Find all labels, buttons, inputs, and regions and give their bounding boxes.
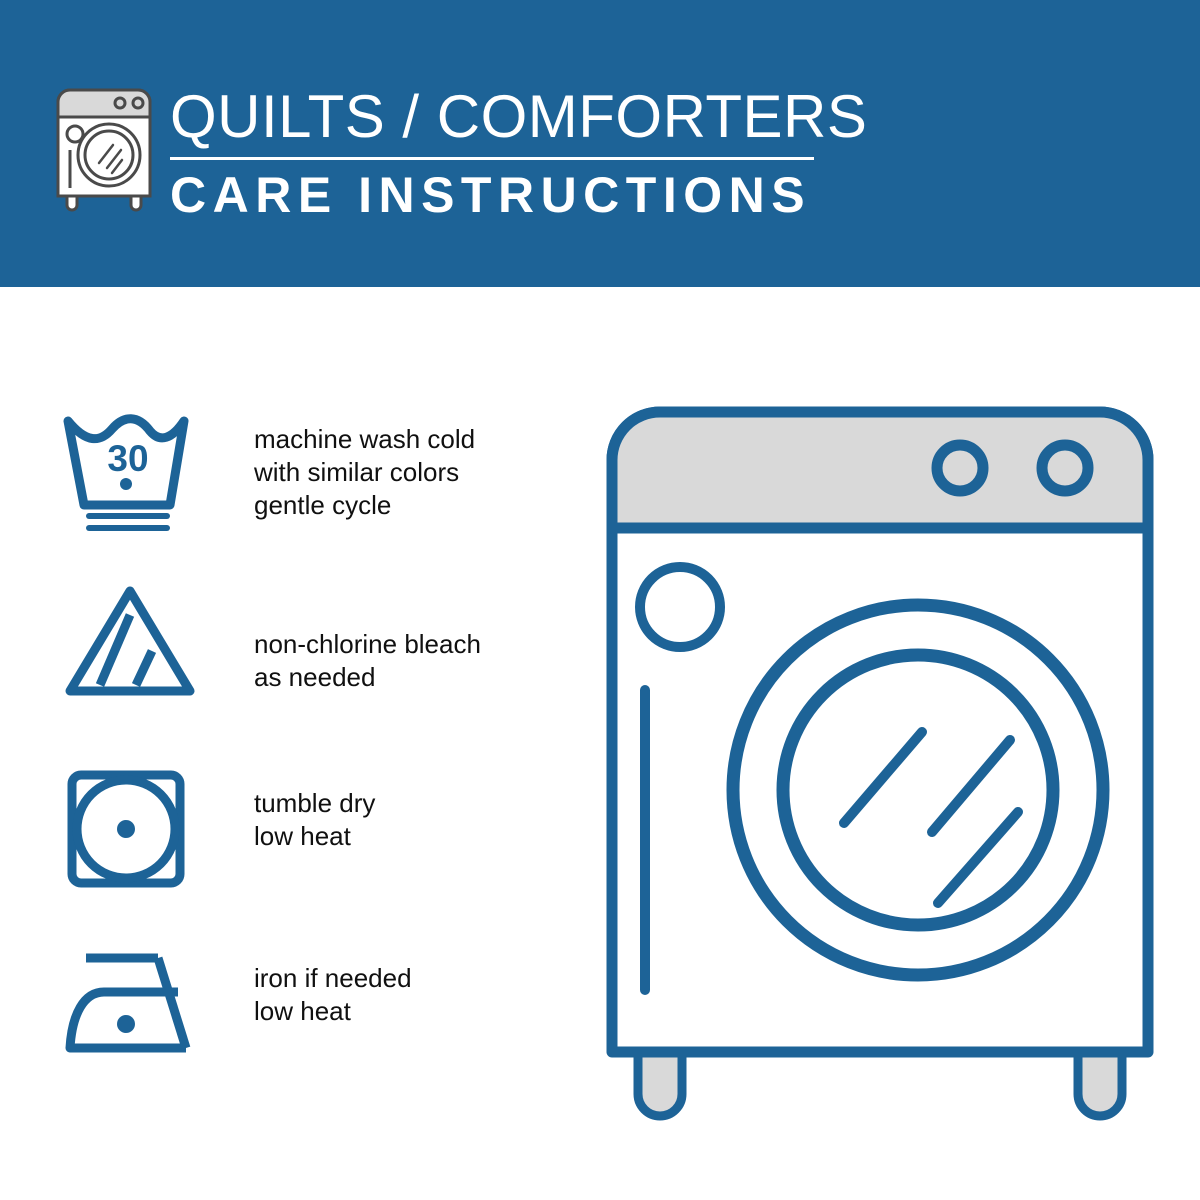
list-item-text: iron if needed low heat bbox=[254, 962, 544, 1028]
care-instructions-page: QUILTS / COMFORTERS CARE INSTRUCTIONS 30 bbox=[0, 0, 1200, 1200]
page-title: QUILTS / COMFORTERS bbox=[170, 84, 830, 150]
page-header: QUILTS / COMFORTERS CARE INSTRUCTIONS bbox=[0, 0, 1200, 287]
control-panel bbox=[612, 412, 1148, 528]
care-text-line: iron if needed bbox=[254, 962, 544, 995]
list-item: non-chlorine bleach as needed bbox=[0, 581, 560, 756]
iron-low-heat-icon bbox=[60, 942, 200, 1067]
care-text-line: non-chlorine bleach bbox=[254, 628, 544, 661]
wash-temperature-value: 30 bbox=[107, 438, 148, 479]
list-item-text: tumble dry low heat bbox=[254, 787, 544, 853]
non-chlorine-bleach-triangle-icon bbox=[60, 581, 200, 706]
title-divider bbox=[170, 157, 814, 160]
care-text-line: gentle cycle bbox=[254, 489, 544, 522]
list-item-text: non-chlorine bleach as needed bbox=[254, 628, 544, 694]
care-text-line: low heat bbox=[254, 820, 544, 853]
list-item: tumble dry low heat bbox=[0, 767, 560, 942]
care-instruction-list: 30 machine wash cold with similar colors… bbox=[0, 287, 560, 1200]
washing-machine-icon bbox=[52, 82, 156, 210]
page-subtitle: CARE INSTRUCTIONS bbox=[170, 166, 830, 224]
front-load-washing-machine-illustration bbox=[600, 400, 1160, 1120]
care-text-line: with similar colors bbox=[254, 456, 544, 489]
care-text-line: tumble dry bbox=[254, 787, 544, 820]
care-text-line: machine wash cold bbox=[254, 423, 544, 456]
care-text-line: low heat bbox=[254, 995, 544, 1028]
list-item-text: machine wash cold with similar colors ge… bbox=[254, 423, 544, 522]
tumble-dry-low-heat-icon bbox=[60, 767, 200, 892]
list-item: 30 machine wash cold with similar colors… bbox=[0, 409, 560, 584]
header-title-group: QUILTS / COMFORTERS CARE INSTRUCTIONS bbox=[170, 84, 830, 224]
wash-tub-30-gentle-icon: 30 bbox=[60, 409, 200, 534]
care-text-line: as needed bbox=[254, 661, 544, 694]
list-item: iron if needed low heat bbox=[0, 942, 560, 1117]
